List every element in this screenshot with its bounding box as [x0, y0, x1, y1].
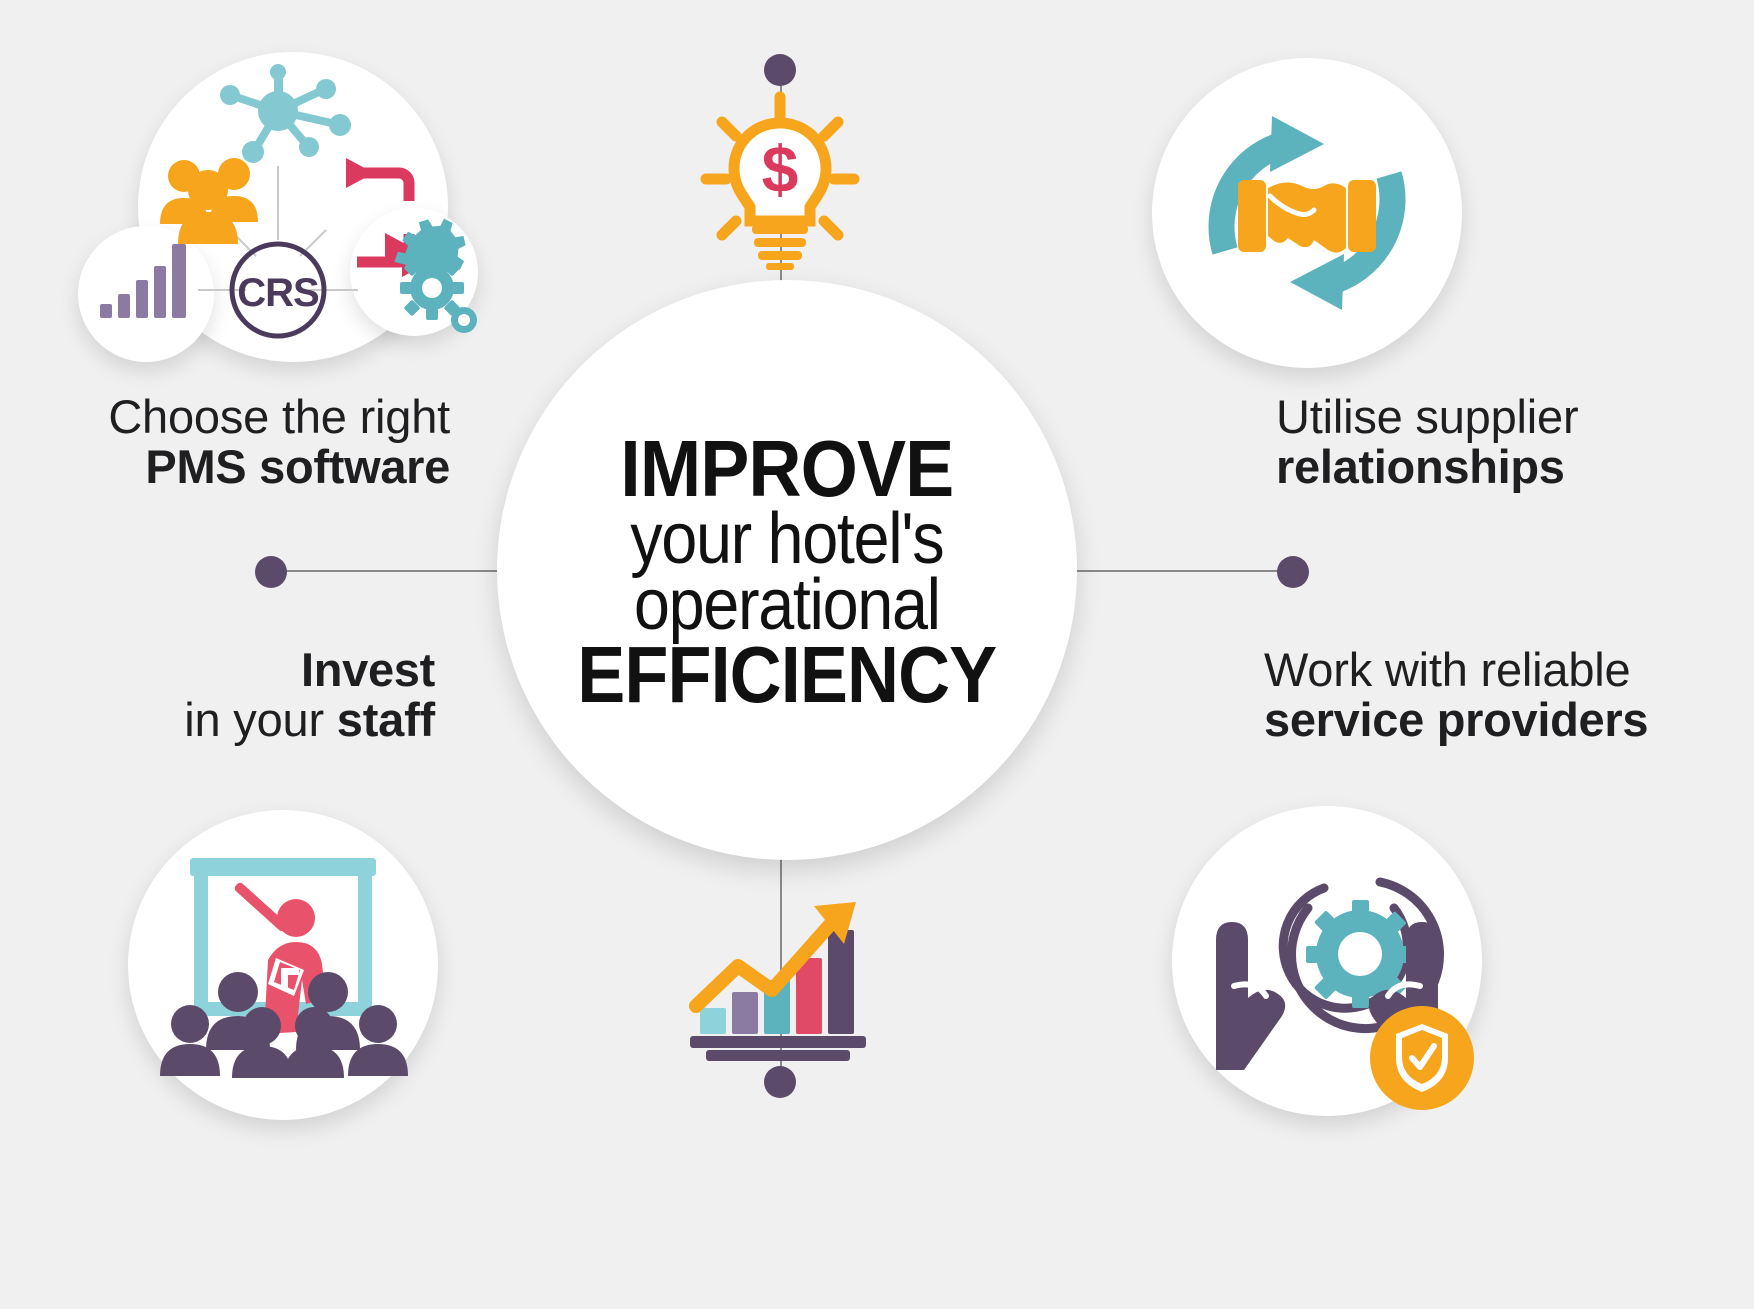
label-providers-line2: service providers — [1264, 695, 1754, 745]
gears-icon — [394, 219, 477, 333]
hub-line-1: IMPROVE — [573, 432, 1001, 506]
connector-dot-right — [1277, 556, 1309, 588]
label-pms-software: Choose the right PMS software — [0, 392, 500, 492]
handshake-cycle-icon — [1152, 58, 1462, 368]
hands-gear-shield-badge — [1172, 806, 1482, 1116]
bulb-base — [752, 225, 808, 270]
connector-dot-top — [764, 54, 796, 86]
label-supplier-relationships: Utilise supplier relationships — [1260, 392, 1754, 492]
label-pms-line1: Choose the right — [0, 392, 450, 442]
training-presentation-icon — [128, 810, 438, 1120]
label-supplier-line1: Utilise supplier — [1276, 392, 1754, 442]
growth-bar-chart-arrow-icon — [686, 896, 876, 1066]
connector-dot-left — [255, 556, 287, 588]
label-invest-in-your: in your — [184, 693, 324, 746]
crs-cloud-icon: CRS — [78, 48, 478, 360]
connector-dot-bottom — [764, 1066, 796, 1098]
label-invest-line2: in your staff — [0, 695, 435, 745]
hub-line-3: operational — [577, 572, 996, 638]
central-hub: IMPROVE your hotel's operational EFFICIE… — [497, 280, 1077, 860]
label-providers-line1: Work with reliable — [1264, 645, 1754, 695]
label-pms-line2: PMS software — [0, 442, 450, 492]
network-node-icon — [220, 64, 351, 163]
training-presentation-badge — [128, 810, 438, 1120]
hands-gear-shield-icon — [1172, 806, 1482, 1116]
label-supplier-line2: relationships — [1276, 442, 1754, 492]
label-invest-staff-word: staff — [337, 693, 435, 746]
infographic-canvas: CRS $ — [0, 0, 1754, 1309]
lightbulb-dollar-icon: $ — [700, 95, 860, 270]
gear-icon — [1306, 900, 1414, 1008]
hub-line-2: your hotel's — [577, 506, 996, 572]
label-invest-line1: Invest — [0, 645, 435, 695]
central-hub-text: IMPROVE your hotel's operational EFFICIE… — [554, 432, 1020, 712]
label-service-providers: Work with reliable service providers — [1250, 645, 1754, 745]
crs-label: CRS — [237, 271, 319, 315]
chart-base — [690, 1036, 866, 1061]
hub-line-4: EFFICIENCY — [577, 638, 996, 712]
bar-chart-mini-icon — [100, 244, 186, 318]
handshake-icon — [1238, 180, 1376, 253]
shield-badge-icon — [1370, 1006, 1474, 1110]
label-invest-staff: Invest in your staff — [0, 645, 490, 745]
dollar-sign-icon: $ — [762, 132, 799, 206]
people-group-icon — [160, 158, 258, 244]
handshake-cycle-badge — [1152, 58, 1462, 368]
